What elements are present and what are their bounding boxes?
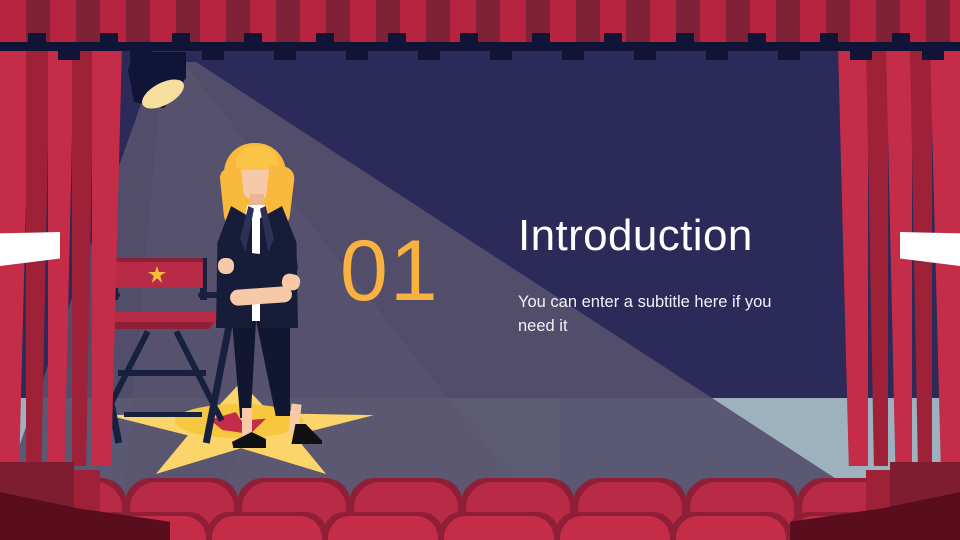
audience-seat (676, 516, 786, 540)
truss-tab (604, 33, 622, 42)
truss-tab (274, 51, 296, 60)
truss-tab (892, 33, 910, 42)
truss-tab (202, 51, 224, 60)
proscenium-valance (0, 0, 960, 46)
section-number: 01 (340, 228, 440, 314)
truss-tab (244, 33, 262, 42)
truss-tab (676, 33, 694, 42)
truss-tab (316, 33, 334, 42)
truss-tab (100, 33, 118, 42)
truss-tab (748, 33, 766, 42)
truss-tab (532, 33, 550, 42)
truss-tab (388, 33, 406, 42)
truss-tab (346, 51, 368, 60)
audience-seat (212, 516, 322, 540)
truss-tab (706, 51, 728, 60)
truss-tab (850, 51, 872, 60)
truss-tab (778, 51, 800, 60)
audience-seat (560, 516, 670, 540)
truss-tab (28, 33, 46, 42)
page-title: Introduction (518, 212, 753, 260)
truss-tab (820, 33, 838, 42)
presenter-hand-left (218, 258, 234, 274)
truss-tab (490, 51, 512, 60)
truss-tab (460, 33, 478, 42)
truss-tab (172, 33, 190, 42)
presentation-slide: 01 Introduction You can enter a subtitle… (0, 0, 960, 540)
chair-foot-rail (124, 412, 202, 417)
audience-seat (328, 516, 438, 540)
audience-seat (444, 516, 554, 540)
truss-tab (418, 51, 440, 60)
truss-tab (58, 51, 80, 60)
lighting-truss-bar (0, 42, 960, 51)
truss-tab (922, 51, 944, 60)
truss-tab (562, 51, 584, 60)
truss-tab (634, 51, 656, 60)
page-subtitle: You can enter a subtitle here if you nee… (518, 291, 798, 339)
chair-cross-bar (118, 370, 206, 376)
